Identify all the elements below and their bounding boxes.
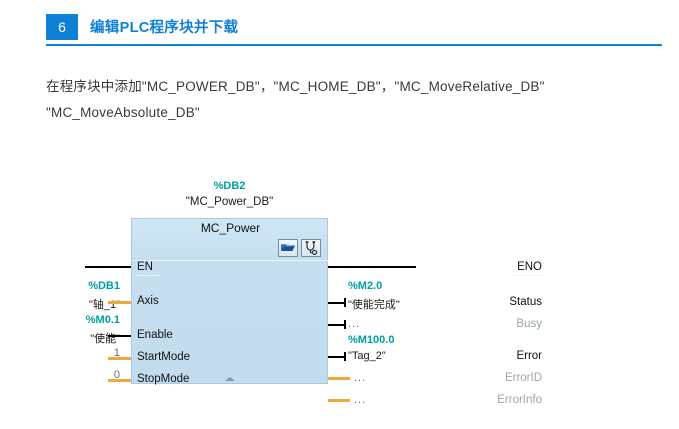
pin-label-axis: Axis [137,293,159,309]
db-number-label: %DB2 [131,180,328,192]
operand-address-axis: %DB1 [58,280,120,292]
pin-label-error: Error [516,348,542,364]
operand-placeholder-busy[interactable]: ... [348,318,360,330]
operand-name-status: "使能完成" [348,296,400,312]
wire-cap-error [344,352,346,361]
pin-label-errorid: ErrorID [505,370,542,386]
pin-label-eno: ENO [517,259,542,275]
wire-stopmode [108,379,131,382]
instruction-line-1: 在程序块中添加"MC_POWER_DB"，"MC_HOME_DB"，"MC_Mo… [46,74,646,100]
wire-startmode [108,357,131,360]
pin-label-en: EN [137,259,153,275]
stethoscope-glyph [302,240,320,256]
wire-enable [108,335,131,337]
operand-name-enable: "使能" [50,330,120,346]
eno-rail-wire [328,266,416,268]
page-title: 编辑PLC程序块并下载 [90,16,238,37]
wire-cap-busy [344,320,346,329]
block-icon-group [278,239,321,257]
open-block-glyph [279,240,297,256]
db-instance-name: "MC_Power_DB" [131,196,328,208]
operand-address-enable: %M0.1 [52,314,120,326]
pin-label-status: Status [509,294,542,310]
pin-underline-en [137,275,159,276]
instruction-paragraph: 在程序块中添加"MC_POWER_DB"，"MC_HOME_DB"，"MC_Mo… [46,74,646,126]
pin-label-startmode: StartMode [137,349,190,365]
en-rail-wire [85,266,131,268]
diagnostics-icon[interactable] [301,239,321,257]
header-divider [46,44,662,46]
wire-errorid [328,377,350,380]
wire-errorinfo [328,399,350,402]
page-header: 6 编辑PLC程序块并下载 [46,14,662,44]
operand-address-error: %M100.0 [348,334,394,346]
pin-label-errorinfo: ErrorInfo [497,392,542,408]
pin-label-enable: Enable [137,327,173,343]
collapse-arrow-icon[interactable] [225,377,235,381]
operand-placeholder-errorinfo[interactable]: ... [354,394,366,406]
step-number-badge: 6 [46,14,78,40]
fbd-diagram: %DB2 "MC_Power_DB" MC_Power [0,170,679,420]
block-title-label: MC_Power [132,221,329,235]
operand-name-axis: "轴_1" [48,296,120,312]
operand-address-status: %M2.0 [348,280,382,292]
pin-underline-eno [514,275,542,276]
pin-label-busy: Busy [516,316,542,332]
open-block-icon[interactable] [278,239,298,257]
pin-label-stopmode: StopMode [137,371,189,387]
instruction-line-2: "MC_MoveAbsolute_DB" [46,100,646,126]
wire-cap-status [344,298,346,307]
block-title-separator [133,260,328,261]
operand-placeholder-errorid[interactable]: ... [354,372,366,384]
wire-axis [108,301,131,304]
operand-name-error: "Tag_2" [348,350,386,362]
